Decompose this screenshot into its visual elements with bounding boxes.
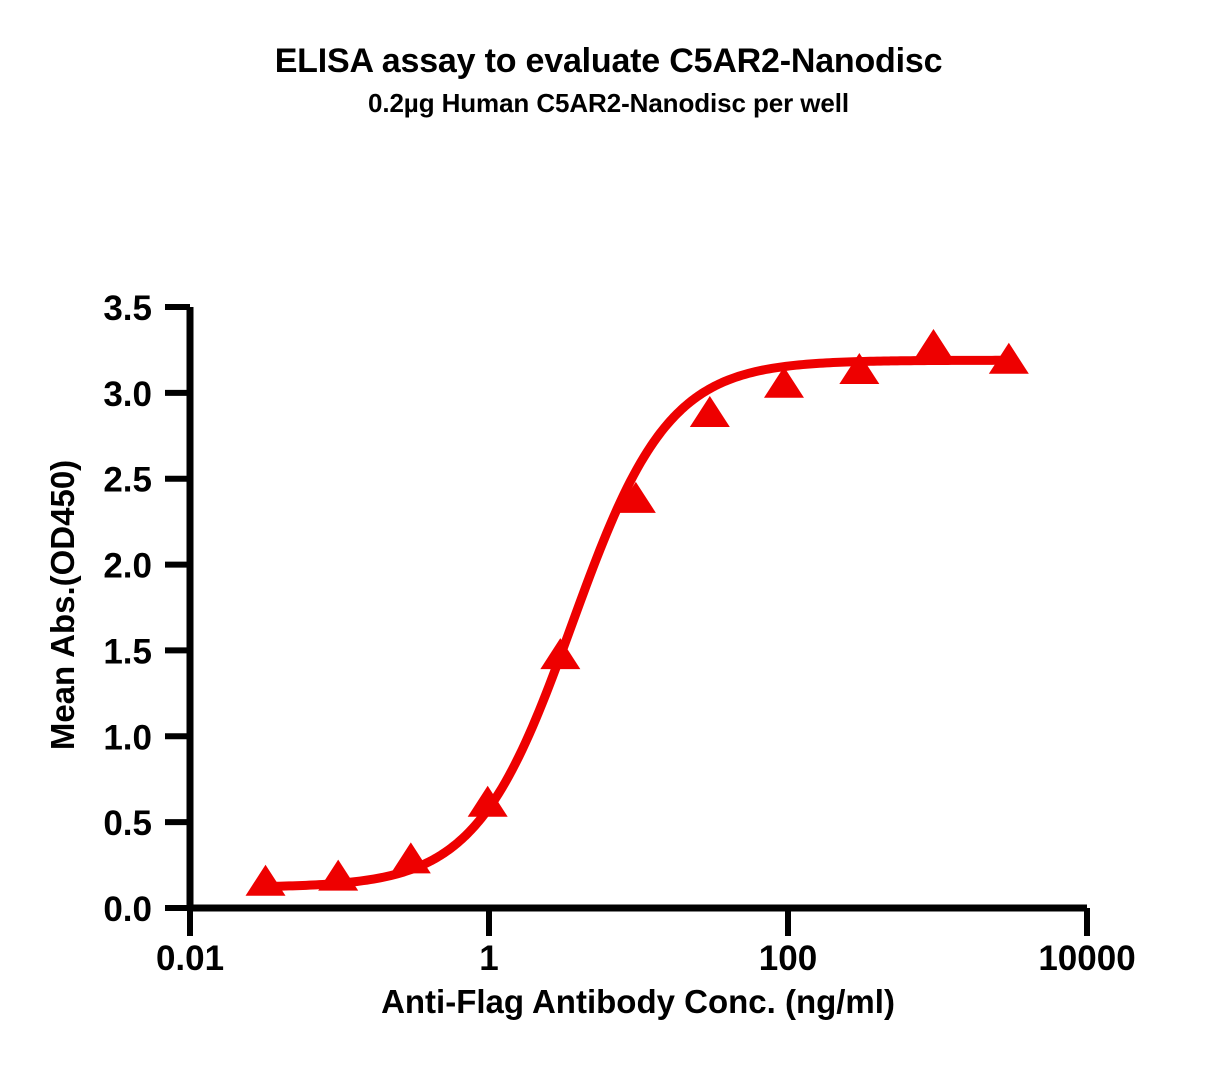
y-tick-label: 2.0 (103, 547, 152, 586)
fit-curve (266, 360, 1009, 886)
data-point-marker (913, 329, 953, 360)
x-axis-title: Anti-Flag Antibody Conc. (ng/ml) (381, 983, 895, 1020)
y-tick-label: 2.5 (103, 461, 152, 500)
y-tick-marks (165, 307, 190, 908)
data-point-marker (246, 865, 286, 896)
x-tick-label: 0.01 (156, 939, 224, 978)
x-tick-labels: 0.01110010000 (156, 939, 1136, 978)
data-point-marker (391, 842, 431, 873)
y-tick-labels: 0.00.51.01.52.02.53.03.5 (103, 289, 152, 929)
x-tick-marks (190, 908, 1087, 936)
elisa-chart-figure: ELISA assay to evaluate C5AR2-Nanodisc 0… (0, 0, 1217, 1079)
data-markers (246, 329, 1029, 896)
x-tick-label: 10000 (1038, 939, 1135, 978)
y-tick-label: 3.0 (103, 375, 152, 414)
x-tick-label: 1 (479, 939, 498, 978)
y-tick-label: 1.5 (103, 632, 152, 671)
data-point-marker (318, 860, 358, 891)
y-tick-label: 0.5 (103, 804, 152, 843)
x-tick-label: 100 (759, 939, 817, 978)
axis-lines (190, 307, 1087, 908)
y-tick-label: 0.0 (103, 890, 152, 929)
y-axis-title: Mean Abs.(OD450) (44, 460, 81, 750)
plot-area: 0.00.51.01.52.02.53.03.5 0.01110010000 A… (0, 0, 1217, 1079)
y-tick-label: 1.0 (103, 718, 152, 757)
y-tick-label: 3.5 (103, 289, 152, 328)
data-point-marker (540, 638, 580, 669)
